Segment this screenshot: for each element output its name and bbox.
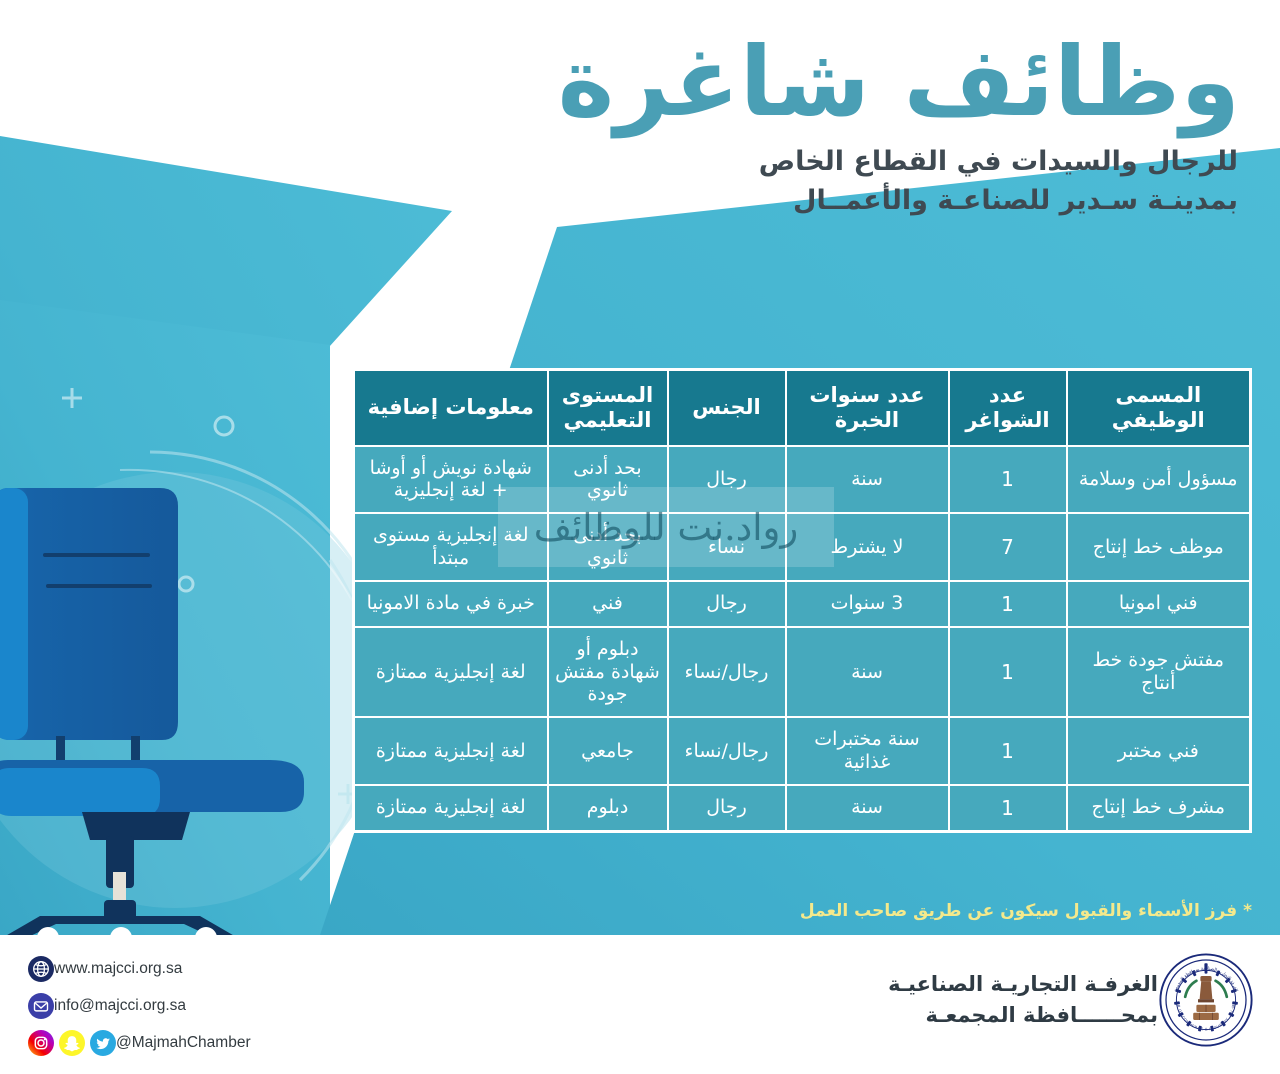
cell-gender: رجال/نساء (668, 627, 786, 717)
cell-extra-info: شهادة نويش أو أوشا + لغة إنجليزية (354, 446, 548, 514)
contact-social-row[interactable]: @MajmahChamber (28, 1024, 265, 1061)
social-icon-group (28, 1030, 116, 1056)
cell-vacancies: 1 (949, 717, 1067, 785)
snapchat-icon[interactable] (59, 1030, 85, 1056)
instagram-icon[interactable] (28, 1030, 54, 1056)
column-header-vacancies: عدد الشواغر (949, 370, 1067, 446)
cell-gender: رجال (668, 581, 786, 627)
cell-extra-info: لغة إنجليزية ممتازة (354, 785, 548, 832)
column-header-extra-info: معلومات إضافية (354, 370, 548, 446)
table-row: مشرف خط إنتاج 1 سنة رجال دبلوم لغة إنجلي… (354, 785, 1251, 832)
table-row: مفتش جودة خط أنتاج 1 سنة رجال/نساء دبلوم… (354, 627, 1251, 717)
cell-experience: 3 سنوات (786, 581, 949, 627)
jobs-table: المسمى الوظيفي عدد الشواغر عدد سنوات الخ… (352, 368, 1252, 833)
cell-experience: لا يشترط (786, 513, 949, 581)
headline-block: وظائف شاغرة للرجال والسيدات في القطاع ال… (540, 34, 1240, 216)
cell-job-title: مفتش جودة خط أنتاج (1067, 627, 1251, 717)
cell-vacancies: 1 (949, 581, 1067, 627)
page-title: وظائف شاغرة (540, 34, 1240, 130)
column-header-experience: عدد سنوات الخبرة (786, 370, 949, 446)
table-row: فني مختبر 1 سنة مختبرات غذائية رجال/نساء… (354, 717, 1251, 785)
subtitle-line-1: للرجال والسيدات في القطاع الخاص (540, 146, 1238, 177)
cell-vacancies: 1 (949, 446, 1067, 514)
chamber-name-block: الغرفـة التجاريـة الصناعيـة بمحــــــافظ… (888, 969, 1158, 1032)
cell-extra-info: خبرة في مادة الامونيا (354, 581, 548, 627)
cell-education: جامعي (548, 717, 668, 785)
table-row: فني امونيا 1 3 سنوات رجال فني خبرة في ما… (354, 581, 1251, 627)
cell-experience: سنة مختبرات غذائية (786, 717, 949, 785)
cell-job-title: فني امونيا (1067, 581, 1251, 627)
cell-job-title: فني مختبر (1067, 717, 1251, 785)
cell-gender: نساء (668, 513, 786, 581)
cell-extra-info: لغة إنجليزية ممتازة (354, 627, 548, 717)
table-header-row: المسمى الوظيفي عدد الشواغر عدد سنوات الخ… (354, 370, 1251, 446)
cell-experience: سنة (786, 785, 949, 832)
twitter-icon[interactable] (90, 1030, 116, 1056)
table-row: مسؤول أمن وسلامة 1 سنة رجال بحد أدنى ثان… (354, 446, 1251, 514)
column-header-gender: الجنس (668, 370, 786, 446)
table-row: موظف خط إنتاج 7 لا يشترط نساء بحد أدنى ث… (354, 513, 1251, 581)
contact-block: www.majcci.org.sa info@majcci.org.sa (28, 950, 265, 1061)
cell-vacancies: 1 (949, 627, 1067, 717)
envelope-icon (28, 993, 54, 1019)
cell-experience: سنة (786, 446, 949, 514)
email-text: info@majcci.org.sa (54, 997, 186, 1015)
jobs-table-wrapper: المسمى الوظيفي عدد الشواغر عدد سنوات الخ… (355, 368, 1252, 833)
employer-selection-note: * فرز الأسماء والقبول سيكون عن طريق صاحب… (800, 901, 1252, 921)
cell-gender: رجال/نساء (668, 717, 786, 785)
cell-job-title: مشرف خط إنتاج (1067, 785, 1251, 832)
contact-email-row[interactable]: info@majcci.org.sa (28, 987, 265, 1024)
cell-vacancies: 1 (949, 785, 1067, 832)
globe-icon (28, 956, 54, 982)
column-header-job-title: المسمى الوظيفي (1067, 370, 1251, 446)
chamber-block: الغرفة التجارية الصناعية بمحافظة المجمعة… (872, 952, 1254, 1048)
column-header-education: المستوى التعليمي (548, 370, 668, 446)
cell-gender: رجال (668, 785, 786, 832)
cell-job-title: مسؤول أمن وسلامة (1067, 446, 1251, 514)
cell-education: بحد أدنى ثانوي (548, 446, 668, 514)
cell-education: فني (548, 581, 668, 627)
cell-vacancies: 7 (949, 513, 1067, 581)
cell-extra-info: لغة إنجليزية مستوى مبتدأ (354, 513, 548, 581)
cell-gender: رجال (668, 446, 786, 514)
contact-website-row[interactable]: www.majcci.org.sa (28, 950, 265, 987)
chamber-line-1: الغرفـة التجاريـة الصناعيـة (888, 969, 1158, 1001)
cell-experience: سنة (786, 627, 949, 717)
poster-root: وظائف شاغرة للرجال والسيدات في القطاع ال… (0, 0, 1280, 1074)
cell-education: دبلوم أو شهادة مفتش جودة (548, 627, 668, 717)
website-text: www.majcci.org.sa (54, 960, 182, 978)
cell-education: بحد أدنى ثانوي (548, 513, 668, 581)
cell-extra-info: لغة إنجليزية ممتازة (354, 717, 548, 785)
cell-job-title: موظف خط إنتاج (1067, 513, 1251, 581)
subtitle-line-2: بمدينـة سـدير للصناعـة والأعمــال (540, 185, 1238, 216)
chamber-line-2: بمحــــــافظة المجمعـة (888, 1000, 1158, 1032)
chamber-seal-logo: الغرفة التجارية الصناعية بمحافظة المجمعة… (1158, 952, 1254, 1048)
cell-education: دبلوم (548, 785, 668, 832)
social-handle-text: @MajmahChamber (116, 1034, 251, 1052)
